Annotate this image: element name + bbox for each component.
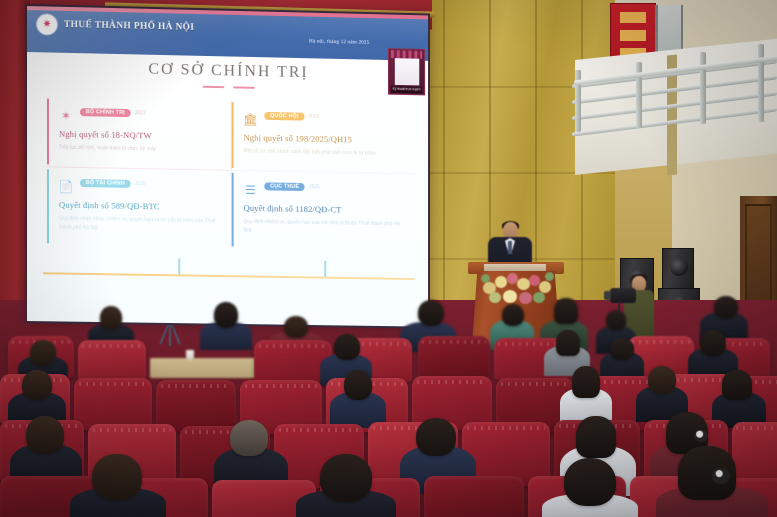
audience-head bbox=[22, 370, 52, 400]
card-badge: BỘ CHÍNH TRỊ bbox=[80, 108, 131, 117]
slide-title: CƠ SỞ CHÍNH TRỊ bbox=[27, 58, 428, 85]
card-title: Nghị quyết số 18-NQ/TW bbox=[59, 129, 219, 142]
card-meta: 2025 bbox=[308, 114, 319, 120]
card-title: Nghị quyết số 198/2025/QH15 bbox=[244, 132, 403, 145]
slide-title-underline bbox=[203, 86, 255, 89]
audience-head bbox=[320, 454, 372, 502]
card-description: Tiếp tục đổi mới, hoàn thiện tổ chức bộ … bbox=[59, 144, 219, 156]
card-description: Quy định nhiệm vụ, quyền hạn của các đơn… bbox=[244, 218, 403, 238]
presenter-tie bbox=[508, 241, 512, 254]
audience-seating bbox=[0, 296, 777, 517]
conference-hall-screenshot: ✷ THUẾ THÀNH PHỐ HÀ NỘI Hà nội, tháng 12… bbox=[0, 0, 777, 517]
slide-card-grid: ✶ BỘ CHÍNH TRỊ 2022 Nghị quyết số 18-NQ/… bbox=[47, 96, 414, 251]
card-meta: 2025 bbox=[309, 184, 320, 190]
card-title: Quyết định số 589/QĐ-BTC bbox=[59, 199, 219, 212]
bank-icon: 🏛 bbox=[244, 111, 258, 127]
slide-header-date: Hà nội, tháng 12 năm 2025 bbox=[309, 38, 369, 45]
slide-footer-divider bbox=[43, 272, 414, 279]
card-accent-bar bbox=[47, 98, 49, 164]
slide-card: 📄 BỘ TÀI CHÍNH 2025 Quyết định số 589/QĐ… bbox=[47, 167, 232, 248]
audience-seat bbox=[78, 340, 146, 382]
pip-caption-text: Kỹ thuật trực tuyến bbox=[391, 86, 422, 94]
picture-in-picture-overlay: Kỹ thuật trực tuyến bbox=[388, 48, 425, 95]
card-badge: BỘ TÀI CHÍNH bbox=[80, 179, 131, 188]
audience-head bbox=[700, 330, 726, 356]
audience-head bbox=[564, 458, 616, 506]
audience-seat bbox=[424, 476, 524, 517]
audience-head bbox=[576, 416, 616, 458]
slide-card: ☰ CỤC THUẾ 2025 Quyết định số 1182/QĐ-CT… bbox=[232, 171, 415, 252]
slide-header-bar: ✷ THUẾ THÀNH PHỐ HÀ NỘI Hà nội, tháng 12… bbox=[27, 6, 428, 61]
pa-loudspeaker-mid bbox=[662, 248, 694, 292]
audience-head bbox=[344, 370, 372, 400]
card-meta: 2025 bbox=[135, 181, 146, 187]
pip-caption: Kỹ thuật trực tuyến bbox=[391, 86, 422, 94]
card-meta: 2022 bbox=[135, 110, 146, 116]
star-circle-icon: ✷ bbox=[37, 14, 57, 34]
audience-head bbox=[100, 306, 122, 330]
document-icon: 📄 bbox=[59, 178, 73, 194]
slide-brand: ✷ THUẾ THÀNH PHỐ HÀ NỘI bbox=[37, 14, 194, 38]
water-cup bbox=[186, 350, 194, 360]
audience-head bbox=[554, 298, 578, 324]
star-icon: ✶ bbox=[59, 108, 73, 124]
slide-card: 🏛 QUỐC HỘI 2025 Nghị quyết số 198/2025/Q… bbox=[232, 100, 415, 174]
left-wall-panel bbox=[0, 0, 30, 340]
audience-head bbox=[556, 330, 580, 356]
audience-head bbox=[648, 366, 676, 394]
audience-head bbox=[572, 366, 600, 398]
hair-accessory bbox=[712, 468, 730, 484]
card-description: Một số cơ chế, chính sách đặc biệt phát … bbox=[244, 147, 403, 159]
card-badge: QUỐC HỘI bbox=[264, 112, 304, 121]
presentation-slide: ✷ THUẾ THÀNH PHỐ HÀ NỘI Hà nội, tháng 12… bbox=[27, 6, 428, 327]
audience-head bbox=[416, 418, 456, 456]
audience-head bbox=[722, 370, 752, 400]
audience-seat bbox=[74, 378, 152, 430]
list-icon: ☰ bbox=[244, 182, 258, 198]
card-title: Quyết định số 1182/QĐ-CT bbox=[244, 203, 403, 216]
audience-head bbox=[92, 454, 142, 500]
card-badge: CỤC THUẾ bbox=[264, 182, 305, 191]
hair-accessory bbox=[694, 430, 708, 442]
pip-video-area bbox=[395, 58, 419, 85]
audience-head bbox=[214, 302, 238, 328]
slide-card: ✶ BỘ CHÍNH TRỊ 2022 Nghị quyết số 18-NQ/… bbox=[47, 96, 232, 170]
card-accent-bar bbox=[232, 102, 234, 167]
audience-seat bbox=[418, 336, 490, 380]
audience-head bbox=[714, 296, 738, 318]
audience-head bbox=[230, 420, 268, 456]
card-description: Quy định chức năng, nhiệm vụ, quyền hạn … bbox=[59, 214, 219, 234]
card-accent-bar bbox=[232, 173, 234, 247]
audience-head bbox=[284, 316, 308, 338]
audience-seat bbox=[732, 422, 777, 486]
audience-head bbox=[502, 304, 524, 326]
audience-head bbox=[30, 340, 56, 366]
audience-head bbox=[610, 338, 634, 360]
projection-screen: ✷ THUẾ THÀNH PHỐ HÀ NỘI Hà nội, tháng 12… bbox=[27, 6, 428, 327]
audience-head bbox=[606, 310, 626, 330]
card-accent-bar bbox=[47, 169, 49, 243]
slide-brand-name: THUẾ THÀNH PHỐ HÀ NỘI bbox=[64, 20, 194, 33]
audience-head bbox=[418, 300, 444, 326]
audience-head bbox=[334, 334, 360, 360]
balcony-railing bbox=[572, 30, 777, 150]
audience-head bbox=[26, 416, 64, 454]
